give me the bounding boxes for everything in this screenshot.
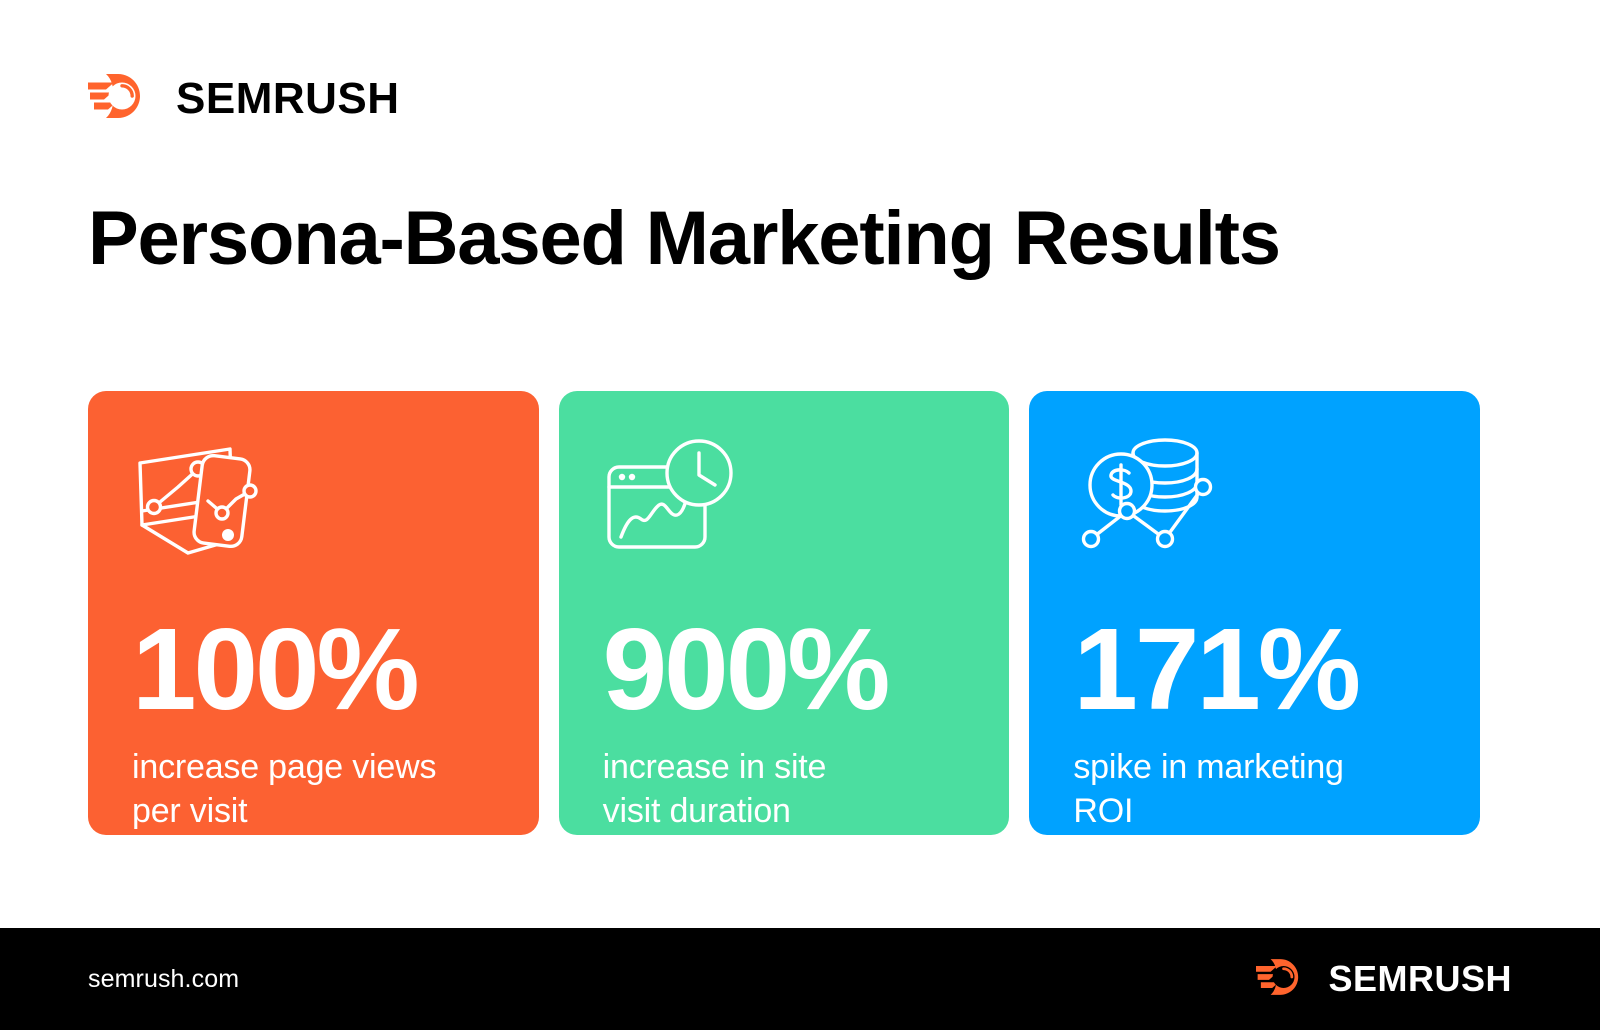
- semrush-logo-header[interactable]: SEMRUSH: [88, 74, 400, 123]
- stat-value: 900%: [603, 611, 966, 727]
- semrush-wordmark: SEMRUSH: [1328, 961, 1512, 997]
- semrush-comet-icon: [1256, 959, 1316, 1000]
- footer-bar: semrush.com SEMRUSH: [0, 928, 1600, 1030]
- stat-card-marketing-roi[interactable]: 171% spike in marketing ROI: [1029, 391, 1480, 835]
- stat-value: 171%: [1073, 611, 1436, 727]
- semrush-logo-footer[interactable]: SEMRUSH: [1256, 959, 1512, 1000]
- semrush-comet-icon: [88, 74, 162, 123]
- stat-value: 100%: [132, 611, 495, 727]
- infographic-page: SEMRUSH Persona-Based Marketing Results: [0, 0, 1600, 1030]
- stat-card-page-views[interactable]: 100% increase page views per visit: [88, 391, 539, 835]
- page-title: Persona-Based Marketing Results: [88, 196, 1508, 281]
- stat-label: increase page views per visit: [132, 745, 495, 833]
- footer-website-url[interactable]: semrush.com: [88, 965, 239, 994]
- browser-chart-with-clock-icon: [603, 435, 966, 553]
- dollar-coins-with-chart-icon: [1073, 435, 1436, 553]
- stat-card-group: 100% increase page views per visit: [88, 391, 1480, 835]
- semrush-wordmark: SEMRUSH: [176, 77, 400, 121]
- stat-label: increase in site visit duration: [603, 745, 966, 833]
- stat-card-visit-duration[interactable]: 900% increase in site visit duration: [559, 391, 1010, 835]
- stat-label: spike in marketing ROI: [1073, 745, 1436, 833]
- laptop-and-phone-analytics-icon: [132, 435, 495, 553]
